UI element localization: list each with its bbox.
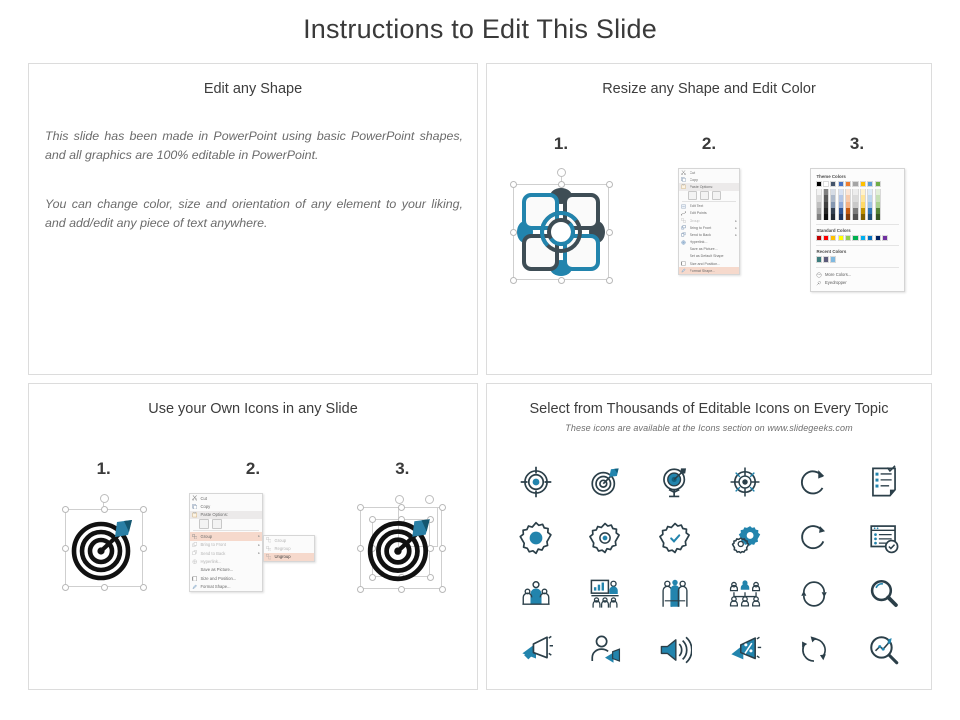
menu-item-send-to-back[interactable]: Send to Back ▸ bbox=[190, 549, 262, 557]
swatch-theme[interactable] bbox=[838, 181, 844, 187]
rotate-handle[interactable] bbox=[557, 168, 566, 177]
sync-arrows-icon bbox=[797, 577, 831, 611]
divider bbox=[816, 224, 899, 225]
standard-colors-label: Standard Colors bbox=[817, 228, 899, 233]
swatch-theme[interactable] bbox=[816, 181, 822, 187]
shade-column[interactable] bbox=[845, 189, 851, 220]
target-ungrouped-art bbox=[352, 493, 452, 597]
resize-handle-s[interactable] bbox=[558, 277, 565, 284]
panel-use-own-icons: Use your Own Icons in any Slide 1. bbox=[28, 383, 478, 690]
refresh-triangle-icon bbox=[797, 633, 831, 667]
menu-separator bbox=[682, 201, 736, 202]
quad-shape-art bbox=[501, 168, 621, 288]
panel-subtitle-editable-icons: These icons are available at the Icons s… bbox=[487, 423, 931, 433]
swatch-shade[interactable] bbox=[816, 214, 822, 220]
target-selected-art bbox=[56, 493, 152, 597]
menu-item-size-and-position[interactable]: Size and Position... bbox=[190, 574, 262, 582]
icon-cell[interactable] bbox=[640, 574, 710, 614]
resize-handle-e[interactable] bbox=[606, 229, 613, 236]
paste-merge-formatting-icon[interactable] bbox=[700, 191, 709, 200]
menu-label: Bring to Front bbox=[690, 226, 736, 230]
submenu-arrow-icon: ▸ bbox=[735, 219, 737, 223]
swatch-standard[interactable] bbox=[823, 235, 829, 241]
swatch-standard[interactable] bbox=[860, 235, 866, 241]
divider bbox=[816, 267, 899, 268]
send-back-icon bbox=[191, 550, 198, 556]
paste-options-row[interactable] bbox=[190, 519, 262, 529]
step-number: 3. bbox=[395, 459, 409, 479]
swatch-standard[interactable] bbox=[875, 235, 881, 241]
swatch-theme[interactable] bbox=[845, 181, 851, 187]
icon-cell[interactable] bbox=[710, 462, 780, 502]
icon-cell[interactable] bbox=[849, 518, 919, 558]
shade-column[interactable] bbox=[838, 189, 844, 220]
group-icon bbox=[265, 537, 272, 543]
swatch-standard[interactable] bbox=[816, 235, 822, 241]
group-submenu[interactable]: Group Regroup bbox=[263, 535, 315, 562]
regroup-icon bbox=[265, 546, 272, 552]
copy-icon bbox=[680, 177, 687, 183]
more-colors-label: More Colors... bbox=[825, 272, 851, 277]
link-icon bbox=[680, 239, 687, 245]
icon-cell[interactable] bbox=[640, 518, 710, 558]
recent-colors-label: Recent Colors bbox=[817, 249, 899, 254]
team-leader-icon bbox=[519, 577, 553, 611]
send-back-icon bbox=[680, 232, 687, 238]
swatch-standard[interactable] bbox=[838, 235, 844, 241]
menu-item-copy[interactable]: Copy bbox=[190, 502, 262, 510]
standard-colors-row[interactable] bbox=[816, 235, 899, 241]
paragraph-2: You can change color, size and orientati… bbox=[45, 195, 463, 233]
menu-item-group[interactable]: Group ▸ bbox=[679, 217, 739, 224]
shape-selection-box[interactable] bbox=[501, 168, 621, 288]
menu-item-edit-points[interactable]: Edit Points bbox=[679, 210, 739, 217]
swatch-recent[interactable] bbox=[830, 256, 836, 262]
menu-item-send-to-back[interactable]: Send to Back ▸ bbox=[679, 231, 739, 238]
icon-cell[interactable] bbox=[571, 630, 641, 670]
rotate-handle[interactable] bbox=[395, 495, 404, 504]
menu-item-cut[interactable]: Cut bbox=[679, 169, 739, 176]
submenu-arrow-icon: ▸ bbox=[258, 551, 260, 555]
menu-item-format-shape[interactable]: Format Shape... bbox=[679, 267, 739, 274]
step-number: 1. bbox=[554, 134, 568, 154]
resize-handle-sw[interactable] bbox=[510, 277, 517, 284]
paste-keep-formatting-icon[interactable] bbox=[688, 191, 697, 200]
icon-cell[interactable] bbox=[501, 462, 571, 502]
menu-label: Ungroup bbox=[274, 554, 312, 559]
resize-handle[interactable] bbox=[439, 545, 446, 552]
swatch-standard[interactable] bbox=[867, 235, 873, 241]
icon-selection-box[interactable] bbox=[56, 493, 152, 597]
panel-resize-shape-edit-color: Resize any Shape and Edit Color 1. bbox=[486, 63, 932, 375]
target-crosshair-icon bbox=[519, 465, 553, 499]
icon-cell[interactable] bbox=[780, 518, 850, 558]
menu-item-hyperlink[interactable]: Hyperlink... bbox=[679, 239, 739, 246]
resize-handle[interactable] bbox=[439, 504, 446, 511]
menu-label: Edit Points bbox=[690, 211, 738, 215]
submenu-arrow-icon: ▸ bbox=[258, 543, 260, 547]
gears-pair-icon bbox=[728, 521, 762, 555]
bring-front-icon bbox=[680, 225, 687, 231]
context-menu-format-shape[interactable]: Cut Copy Paste Options: bbox=[678, 168, 740, 275]
step-number: 2. bbox=[702, 134, 716, 154]
step-icons-2: 2. Cut bbox=[178, 459, 327, 601]
menu-label: Group bbox=[690, 219, 736, 223]
icon-cell[interactable] bbox=[780, 630, 850, 670]
recent-colors-row[interactable] bbox=[816, 256, 899, 262]
swatch-theme[interactable] bbox=[823, 181, 829, 187]
swatch-theme[interactable] bbox=[860, 181, 866, 187]
step-icons-3: 3. bbox=[328, 459, 477, 601]
theme-colors-top-row[interactable] bbox=[816, 181, 899, 187]
menu-item-set-as-default-shape[interactable]: Set as Default Shape bbox=[679, 253, 739, 260]
resize-handle-ne[interactable] bbox=[606, 181, 613, 188]
icon-cell[interactable] bbox=[571, 574, 641, 614]
icon-cell[interactable] bbox=[780, 574, 850, 614]
resize-handle-sw[interactable] bbox=[62, 584, 69, 591]
paste-picture-icon[interactable] bbox=[212, 519, 222, 529]
link-icon bbox=[191, 559, 198, 565]
more-colors-option[interactable]: More Colors... bbox=[816, 271, 899, 279]
paste-icon bbox=[680, 184, 687, 190]
color-picker-popup[interactable]: Theme Colors bbox=[810, 168, 905, 292]
submenu-item-ungroup[interactable]: Ungroup bbox=[264, 553, 314, 561]
target-dart-icon bbox=[588, 465, 622, 499]
swatch-theme[interactable] bbox=[875, 181, 881, 187]
size-position-icon bbox=[680, 261, 687, 267]
target-dart-icon bbox=[68, 512, 140, 584]
menu-item-cut[interactable]: Cut bbox=[190, 494, 262, 502]
swatch-shade[interactable] bbox=[823, 214, 829, 220]
search-analytics-icon bbox=[867, 633, 901, 667]
menu-item-size-and-position[interactable]: Size and Position... bbox=[679, 260, 739, 267]
resize-handle-se[interactable] bbox=[140, 584, 147, 591]
resize-handle[interactable] bbox=[398, 586, 405, 593]
paste-icon bbox=[191, 512, 198, 518]
menu-item-group[interactable]: Group ▸ bbox=[190, 532, 262, 540]
step-number: 3. bbox=[850, 134, 864, 154]
refresh-clockwise-icon bbox=[797, 465, 831, 499]
menu-item-save-as-picture[interactable]: Save as Picture... bbox=[679, 246, 739, 253]
step-resize-1: 1. bbox=[487, 134, 635, 292]
eyedropper-label: Eyedropper bbox=[825, 280, 847, 285]
swatch-shade[interactable] bbox=[867, 214, 873, 220]
page-title: Instructions to Edit This Slide bbox=[0, 14, 960, 45]
shade-column[interactable] bbox=[830, 189, 836, 220]
icon-cell[interactable] bbox=[780, 462, 850, 502]
people-group-icon bbox=[658, 577, 692, 611]
swatch-theme[interactable] bbox=[830, 181, 836, 187]
ungrouped-selection-box[interactable] bbox=[352, 493, 452, 597]
ungroup-icon bbox=[265, 554, 272, 560]
paragraph-1: This slide has been made in PowerPoint u… bbox=[45, 127, 463, 165]
rotate-handle[interactable] bbox=[100, 494, 109, 503]
gear-filled-icon bbox=[519, 521, 553, 555]
group-icon bbox=[680, 218, 687, 224]
icon-cell[interactable] bbox=[849, 574, 919, 614]
swatch-theme[interactable] bbox=[852, 181, 858, 187]
shade-column[interactable] bbox=[823, 189, 829, 220]
context-menu-art: Cut Copy Paste Options: bbox=[678, 168, 740, 275]
presentation-team-icon bbox=[588, 577, 622, 611]
menu-label: Send to Back bbox=[200, 551, 258, 556]
megaphone-percent-icon bbox=[728, 633, 762, 667]
edit-points-icon bbox=[680, 210, 687, 216]
own-icons-steps: 1. bbox=[29, 459, 477, 601]
icon-cell[interactable] bbox=[571, 462, 641, 502]
panel-title-editable-icons: Select from Thousands of Editable Icons … bbox=[487, 401, 931, 417]
panel-editable-icons: Select from Thousands of Editable Icons … bbox=[486, 383, 932, 690]
theme-colors-label: Theme Colors bbox=[817, 174, 899, 179]
palette-icon bbox=[816, 271, 823, 278]
icon-cell[interactable] bbox=[640, 630, 710, 670]
swatch-standard[interactable] bbox=[830, 235, 836, 241]
checklist-report-icon bbox=[867, 521, 901, 555]
panel-title-edit-shape: Edit any Shape bbox=[29, 81, 477, 97]
crosshair-scope-icon bbox=[728, 465, 762, 499]
menu-label: Save as Picture... bbox=[690, 247, 738, 251]
color-picker-art: Theme Colors bbox=[810, 168, 905, 292]
swatch-recent[interactable] bbox=[816, 256, 822, 262]
slide-canvas: Instructions to Edit This Slide Edit any… bbox=[0, 0, 960, 720]
magnifier-icon bbox=[867, 577, 901, 611]
swatch-standard[interactable] bbox=[845, 235, 851, 241]
edit-text-icon bbox=[680, 203, 687, 209]
menu-label: Copy bbox=[690, 178, 738, 182]
shade-column[interactable] bbox=[852, 189, 858, 220]
menu-label: Copy bbox=[200, 504, 260, 509]
resize-handle-s[interactable] bbox=[101, 584, 108, 591]
menu-with-submenu: Cut Copy bbox=[189, 493, 317, 601]
shade-column[interactable] bbox=[867, 189, 873, 220]
resize-handle[interactable] bbox=[357, 586, 364, 593]
shade-column[interactable] bbox=[816, 189, 822, 220]
menu-label: Group bbox=[274, 538, 312, 543]
menu-label: Paste Options: bbox=[690, 185, 738, 189]
step-number: 2. bbox=[246, 459, 260, 479]
bring-front-icon bbox=[191, 542, 198, 548]
menu-label: Paste Options: bbox=[200, 512, 260, 517]
gear-outline-icon bbox=[588, 521, 622, 555]
step-resize-3: 3. Theme Colors bbox=[783, 134, 931, 292]
menu-label: Set as Default Shape bbox=[690, 254, 738, 258]
icon-cell[interactable] bbox=[501, 630, 571, 670]
target-stand-icon bbox=[658, 465, 692, 499]
menu-label: Hyperlink... bbox=[200, 559, 260, 564]
copy-icon bbox=[191, 504, 198, 510]
swatch-recent[interactable] bbox=[823, 256, 829, 262]
submenu-item-regroup[interactable]: Regroup bbox=[264, 544, 314, 552]
menu-label: Edit Text bbox=[690, 204, 738, 208]
menu-item-paste-options[interactable]: Paste Options: bbox=[679, 183, 739, 190]
paste-picture-icon[interactable] bbox=[712, 191, 721, 200]
icon-cell[interactable] bbox=[710, 518, 780, 558]
icon-cell[interactable] bbox=[710, 630, 780, 670]
menu-item-paste-options[interactable]: Paste Options: bbox=[190, 511, 262, 519]
swatch-shade[interactable] bbox=[860, 214, 866, 220]
menu-item-edit-text[interactable]: Edit Text bbox=[679, 203, 739, 210]
gear-check-icon bbox=[658, 521, 692, 555]
blank-icon bbox=[191, 567, 198, 573]
swatch-shade[interactable] bbox=[845, 214, 851, 220]
paste-options-row[interactable] bbox=[679, 191, 739, 200]
panel-title-own-icons: Use your Own Icons in any Slide bbox=[29, 401, 477, 417]
rotate-handle-arrow[interactable] bbox=[425, 495, 434, 504]
menu-item-copy[interactable]: Copy bbox=[679, 176, 739, 183]
icon-cell[interactable] bbox=[849, 462, 919, 502]
swatch-shade[interactable] bbox=[838, 214, 844, 220]
edit-shape-body: This slide has been made in PowerPoint u… bbox=[29, 97, 477, 233]
menu-label: Format Shape... bbox=[690, 269, 738, 273]
menu-item-hyperlink[interactable]: Hyperlink... bbox=[190, 557, 262, 565]
eyedropper-icon bbox=[816, 279, 823, 286]
menu-item-bring-to-front[interactable]: Bring to Front ▸ bbox=[679, 224, 739, 231]
theme-colors-shade-grid[interactable] bbox=[816, 189, 899, 220]
person-announce-icon bbox=[588, 633, 622, 667]
resize-handle[interactable] bbox=[439, 586, 446, 593]
icon-cell[interactable] bbox=[849, 630, 919, 670]
icon-cell[interactable] bbox=[501, 574, 571, 614]
menu-label: Group bbox=[200, 534, 258, 539]
format-shape-icon bbox=[680, 268, 687, 274]
ungroup-menu-art: Cut Copy bbox=[189, 493, 317, 601]
group-icon bbox=[191, 533, 198, 539]
menu-label: Bring to Front bbox=[200, 542, 258, 547]
speaker-loud-icon bbox=[658, 633, 692, 667]
menu-label: Cut bbox=[690, 171, 738, 175]
menu-label: Size and Position... bbox=[200, 576, 260, 581]
submenu-arrow-icon: ▸ bbox=[735, 226, 737, 230]
resize-handle-ne[interactable] bbox=[140, 506, 147, 513]
icon-library-grid bbox=[501, 462, 919, 670]
resize-handle-e[interactable] bbox=[140, 545, 147, 552]
swatch-theme[interactable] bbox=[867, 181, 873, 187]
icon-cell[interactable] bbox=[571, 518, 641, 558]
format-shape-icon bbox=[191, 584, 198, 590]
swatch-shade[interactable] bbox=[875, 214, 881, 220]
step-number: 1. bbox=[97, 459, 111, 479]
icon-cell[interactable] bbox=[710, 574, 780, 614]
scissors-icon bbox=[191, 495, 198, 501]
resize-shape-steps: 1. bbox=[487, 134, 931, 292]
paste-keep-formatting-icon[interactable] bbox=[199, 519, 209, 529]
submenu-arrow-icon: ▸ bbox=[735, 233, 737, 237]
blank-icon bbox=[680, 253, 687, 259]
divider bbox=[816, 245, 899, 246]
icon-cell[interactable] bbox=[501, 518, 571, 558]
scissors-icon bbox=[680, 170, 687, 176]
checklist-document-icon bbox=[867, 465, 901, 499]
refresh-circle-icon bbox=[797, 521, 831, 555]
blank-icon bbox=[680, 246, 687, 252]
menu-label: Cut bbox=[200, 496, 260, 501]
swatch-shade[interactable] bbox=[830, 214, 836, 220]
menu-separator bbox=[193, 530, 259, 531]
resize-handle-se[interactable] bbox=[606, 277, 613, 284]
panel-edit-any-shape: Edit any Shape This slide has been made … bbox=[28, 63, 478, 375]
megaphone-icon bbox=[519, 633, 553, 667]
menu-label: Save as Picture... bbox=[200, 567, 260, 572]
quad-shape-icon bbox=[515, 186, 607, 278]
step-icons-1: 1. bbox=[29, 459, 178, 601]
team-network-icon bbox=[728, 577, 762, 611]
size-position-icon bbox=[191, 575, 198, 581]
panel-title-resize-shape: Resize any Shape and Edit Color bbox=[487, 81, 931, 97]
submenu-item-group[interactable]: Group bbox=[264, 536, 314, 544]
menu-label: Hyperlink... bbox=[690, 240, 738, 244]
menu-item-bring-to-front[interactable]: Bring to Front ▸ bbox=[190, 541, 262, 549]
swatch-standard[interactable] bbox=[852, 235, 858, 241]
menu-label: Format Shape... bbox=[200, 584, 260, 589]
menu-item-format-shape[interactable]: Format Shape... bbox=[190, 583, 262, 591]
context-menu-ungroup[interactable]: Cut Copy bbox=[189, 493, 263, 592]
shade-column[interactable] bbox=[875, 189, 881, 220]
submenu-arrow-icon: ▸ bbox=[258, 534, 260, 538]
menu-label: Send to Back bbox=[690, 233, 736, 237]
step-resize-2: 2. Cut Copy bbox=[635, 134, 783, 292]
shade-column[interactable] bbox=[860, 189, 866, 220]
menu-item-save-as-picture[interactable]: Save as Picture... bbox=[190, 566, 262, 574]
menu-label: Size and Position... bbox=[690, 262, 738, 266]
swatch-standard[interactable] bbox=[882, 235, 888, 241]
eyedropper-option[interactable]: Eyedropper bbox=[816, 279, 899, 287]
menu-label: Regroup bbox=[274, 546, 312, 551]
swatch-shade[interactable] bbox=[852, 214, 858, 220]
target-dart-icon bbox=[364, 511, 438, 585]
icon-cell[interactable] bbox=[640, 462, 710, 502]
